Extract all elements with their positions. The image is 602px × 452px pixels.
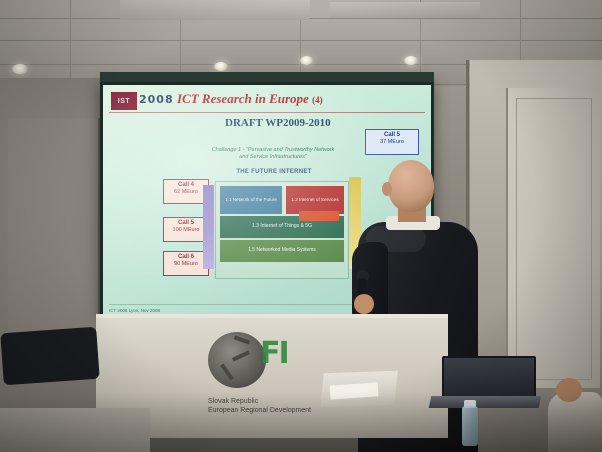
bottom-shadow xyxy=(0,392,602,452)
ceiling-panel xyxy=(330,2,480,18)
call-box-call5-top: Call 5 37 MEuro xyxy=(365,129,419,155)
slide-footer-left: ICT 2008 Lyon, Nov 2008 xyxy=(109,308,160,313)
slide-title-main: ICT Research in Europe xyxy=(177,91,309,106)
call-label: Call 5 xyxy=(367,132,417,139)
call-amount: 100 MEuro xyxy=(165,227,207,233)
chair-back xyxy=(0,327,99,386)
challenge-text: Challenge 1 - "Pervasive and Trustworthy… xyxy=(207,147,339,161)
downlight-icon xyxy=(214,62,228,71)
speaker-hand xyxy=(354,294,374,314)
diagram-box-service: 1.2 Internet of Services xyxy=(286,186,344,214)
ist-logo: IST xyxy=(111,92,137,110)
call-amount: 37 MEuro xyxy=(367,139,417,145)
speaker-ear xyxy=(382,182,392,196)
diagram-box-network: 1.1 Network of the Future xyxy=(220,186,282,214)
diagram-box-media: 1.5 Networked Media Systems xyxy=(220,240,344,262)
banner-logo-letters: FI xyxy=(260,336,288,371)
ceiling-panel xyxy=(120,0,310,20)
future-internet-label: THE FUTURE INTERNET xyxy=(219,169,329,175)
slide-divider xyxy=(109,112,425,113)
call-amount: 62 MEuro xyxy=(165,189,207,195)
speaker-head xyxy=(388,160,434,212)
slide-title: ICT Research in Europe (4) xyxy=(177,91,323,107)
call-label: Call 5 xyxy=(165,220,207,227)
center-arrow-icon xyxy=(299,211,339,221)
slide-diagram: 1.1 Network of the Future 1.2 Internet o… xyxy=(215,181,349,279)
screen-mount xyxy=(100,72,434,82)
downlight-icon xyxy=(300,56,313,65)
downlight-icon xyxy=(404,56,418,65)
call-amount: 90 MEuro xyxy=(165,261,207,267)
photograph: IST 2008 ICT Research in Europe (4) DRAF… xyxy=(0,0,602,452)
slide-subtitle: DRAFT WP2009-2010 xyxy=(225,117,331,129)
slide-year: 2008 xyxy=(139,93,174,106)
downlight-icon xyxy=(12,64,28,74)
right-door-panel xyxy=(516,98,592,380)
slide-title-suffix: (4) xyxy=(312,95,323,105)
event-banner-logo: FI xyxy=(196,330,302,392)
left-arrow-icon xyxy=(203,185,214,269)
ist-logo-text: IST xyxy=(118,98,130,105)
call-label: Call 6 xyxy=(165,254,207,261)
call-label: Call 4 xyxy=(165,182,207,189)
